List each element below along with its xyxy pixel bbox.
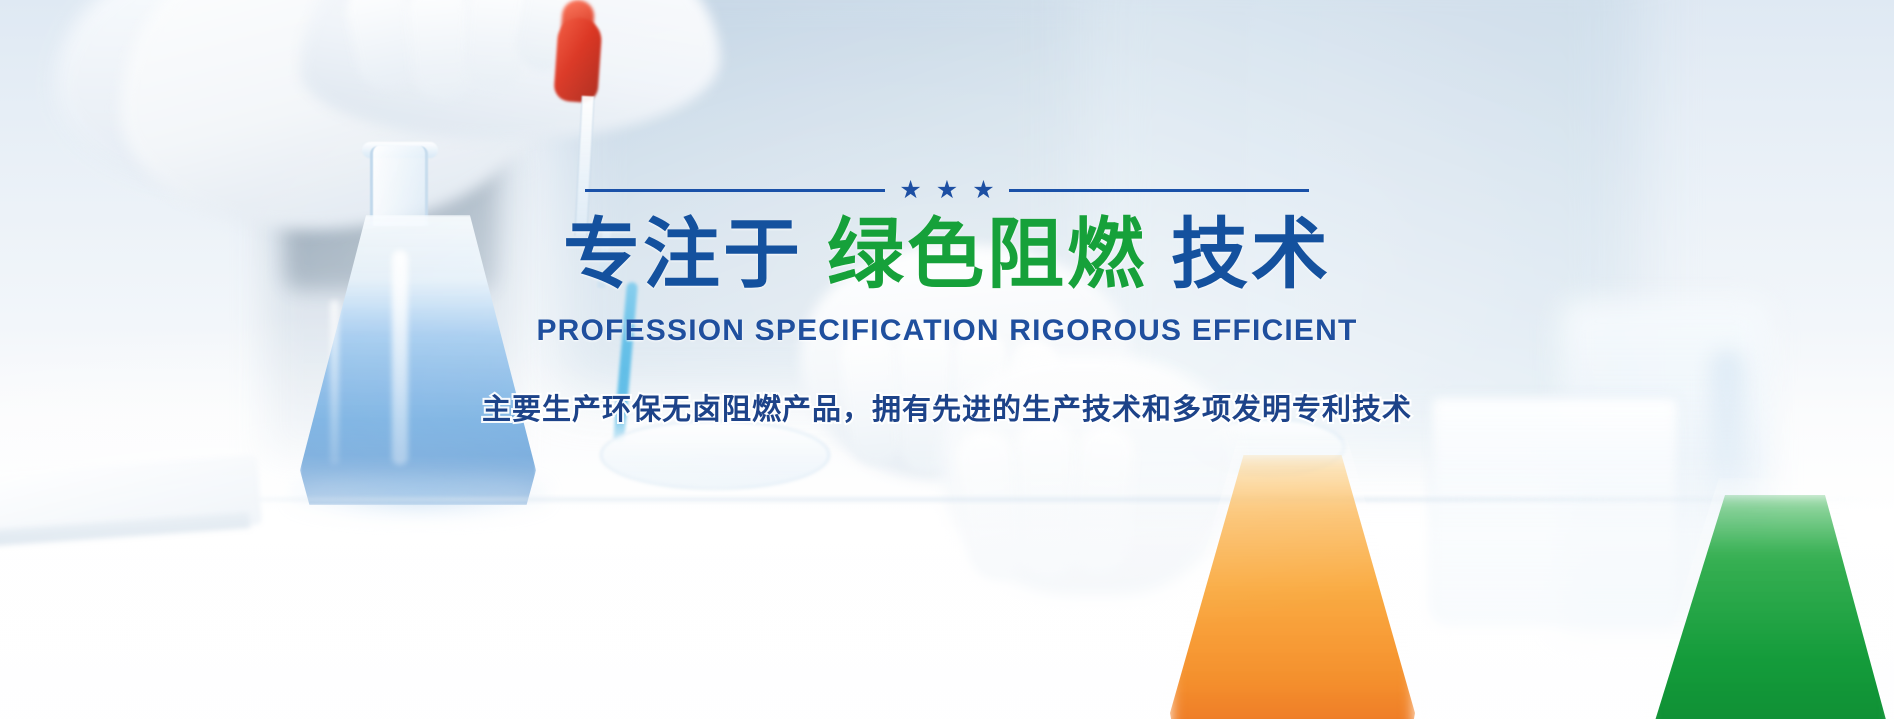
- lab-bench-surface: [0, 455, 1894, 719]
- pipette-red-bulb: [553, 17, 603, 104]
- hero-banner: ★ ★ ★ 专注于绿色阻燃技术 PROFESSION SPECIFICATION…: [0, 0, 1894, 719]
- flask-neck: [370, 146, 428, 226]
- flask-highlight-secondary: [330, 300, 339, 465]
- background-photo: [0, 0, 1894, 719]
- bench-edge-line: [0, 498, 1894, 501]
- flask-highlight: [392, 250, 408, 465]
